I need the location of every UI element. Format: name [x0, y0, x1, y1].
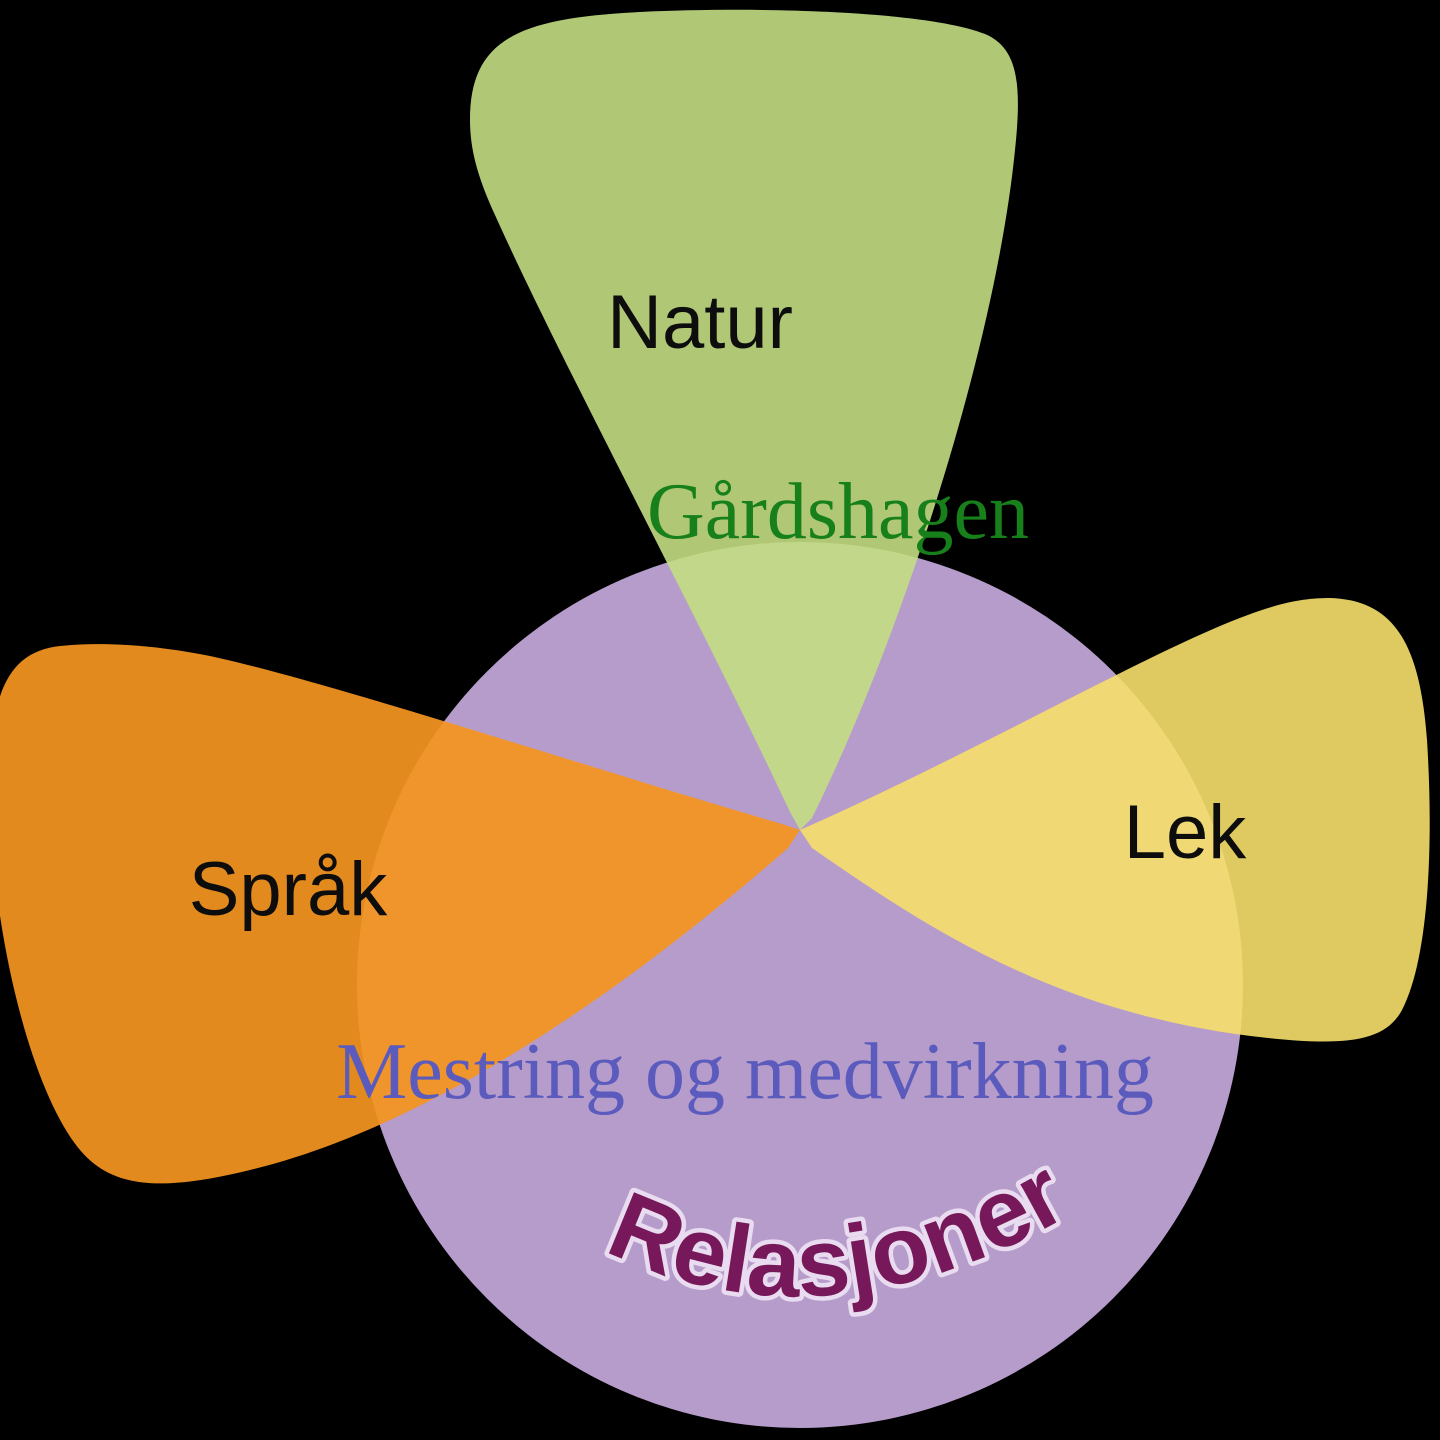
label-natur: Natur — [607, 280, 793, 365]
label-lek: Lek — [1124, 790, 1248, 875]
label-gardshagen: Gårdshagen — [647, 468, 1029, 556]
label-mestring-og-medvirkning: Mestring og medvirkning — [336, 1028, 1154, 1116]
petal-venn-diagram: Natur Gårdshagen Lek Språk Mestring og m… — [0, 0, 1440, 1440]
diagram-canvas: Natur Gårdshagen Lek Språk Mestring og m… — [0, 0, 1440, 1440]
label-sprak: Språk — [189, 847, 389, 932]
